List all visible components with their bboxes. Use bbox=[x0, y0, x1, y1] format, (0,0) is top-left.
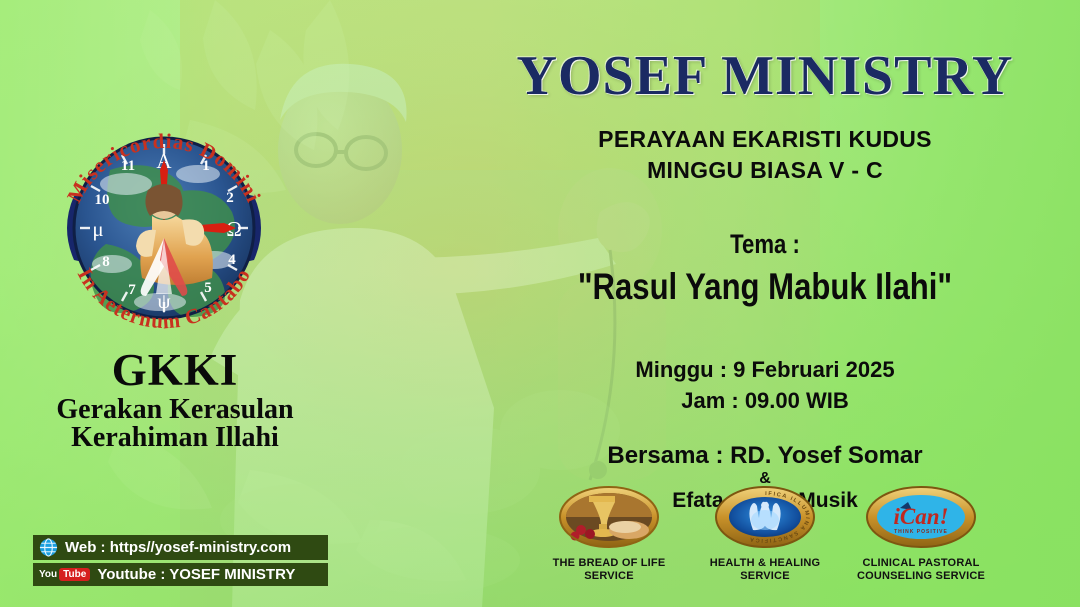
page-title: YOSEF MINISTRY bbox=[450, 48, 1080, 104]
service-label-clinical: CLINICAL PASTORAL COUNSELING SERVICE bbox=[847, 557, 995, 583]
youtube-icon-you: You bbox=[39, 569, 57, 580]
organization-name-block: GKKI Gerakan Kerasulan Kerahiman Illahi bbox=[0, 348, 350, 453]
youtube-icon: You Tube bbox=[39, 568, 90, 581]
service-label-line-1: HEALTH & HEALING bbox=[691, 557, 839, 570]
service-label-line-1: THE BREAD OF LIFE bbox=[535, 557, 683, 570]
web-label: Web : https//yosef-ministry.com bbox=[65, 539, 291, 556]
service-badges: THE BREAD OF LIFE SERVICE bbox=[535, 486, 995, 583]
service-badge-health-healing[interactable]: PURIFICA ILLUMINA SANCTIFICA HEALTH & HE… bbox=[691, 486, 839, 583]
youtube-label: Youtube : YOSEF MINISTRY bbox=[97, 566, 295, 583]
subtitle-line-2: MINGGU BIASA V - C bbox=[450, 155, 1080, 186]
service-label-line-2: SERVICE bbox=[691, 570, 839, 583]
gkki-divine-mercy-emblem: 1 2 4 5 7 8 10 11 Α Ω μ ψ bbox=[48, 112, 280, 344]
org-abbreviation: GKKI bbox=[0, 348, 350, 394]
service-label-bread: THE BREAD OF LIFE SERVICE bbox=[535, 557, 683, 583]
poster-canvas: 1 2 4 5 7 8 10 11 Α Ω μ ψ bbox=[0, 0, 1080, 607]
celebrant-line: Bersama : RD. Yosef Somar bbox=[450, 442, 1080, 470]
clock-numeral-10: 10 bbox=[95, 192, 110, 208]
contact-bars: Web : https//yosef-ministry.com You Tube… bbox=[33, 535, 328, 589]
ican-logo-icon: iCan! THINK POSITIVE bbox=[866, 486, 976, 548]
youtube-contact-bar[interactable]: You Tube Youtube : YOSEF MINISTRY bbox=[33, 563, 328, 586]
org-line-1: Gerakan Kerasulan bbox=[0, 396, 350, 425]
service-badge-bread-of-life[interactable]: THE BREAD OF LIFE SERVICE bbox=[535, 486, 683, 583]
service-label-line-2: SERVICE bbox=[535, 570, 683, 583]
service-badge-clinical-pastoral[interactable]: iCan! THINK POSITIVE CLINICAL PASTORAL C… bbox=[847, 486, 995, 583]
ampersand: & bbox=[450, 470, 1080, 488]
event-date: Minggu : 9 Februari 2025 bbox=[450, 354, 1080, 385]
globe-icon bbox=[39, 538, 58, 557]
youtube-icon-tube: Tube bbox=[59, 568, 90, 581]
clock-numeral-2: 2 bbox=[226, 190, 234, 206]
service-label-line-2: COUNSELING SERVICE bbox=[847, 570, 995, 583]
org-line-2: Kerahiman Illahi bbox=[0, 424, 350, 453]
schedule-block: Minggu : 9 Februari 2025 Jam : 09.00 WIB bbox=[450, 354, 1080, 416]
greek-mu-icon: μ bbox=[92, 217, 103, 241]
healing-hands-icon: PURIFICA ILLUMINA SANCTIFICA bbox=[715, 486, 815, 548]
event-subtitle: PERAYAAN EKARISTI KUDUS MINGGU BIASA V -… bbox=[450, 124, 1080, 187]
clock-numeral-8: 8 bbox=[102, 254, 110, 270]
ican-logo-text: iCan! bbox=[894, 504, 949, 529]
bread-and-chalice-icon bbox=[559, 486, 659, 548]
clock-numeral-7: 7 bbox=[128, 282, 136, 298]
service-label-line-1: CLINICAL PASTORAL bbox=[847, 557, 995, 570]
ican-logo-subtext: THINK POSITIVE bbox=[894, 529, 948, 535]
theme-value: "Rasul Yang Mabuk Ilahi" bbox=[500, 266, 1029, 308]
theme-label: Tema : bbox=[507, 229, 1024, 260]
service-label-healing: HEALTH & HEALING SERVICE bbox=[691, 557, 839, 583]
subtitle-line-1: PERAYAAN EKARISTI KUDUS bbox=[450, 124, 1080, 155]
web-contact-bar[interactable]: Web : https//yosef-ministry.com bbox=[33, 535, 328, 560]
event-time: Jam : 09.00 WIB bbox=[450, 385, 1080, 416]
